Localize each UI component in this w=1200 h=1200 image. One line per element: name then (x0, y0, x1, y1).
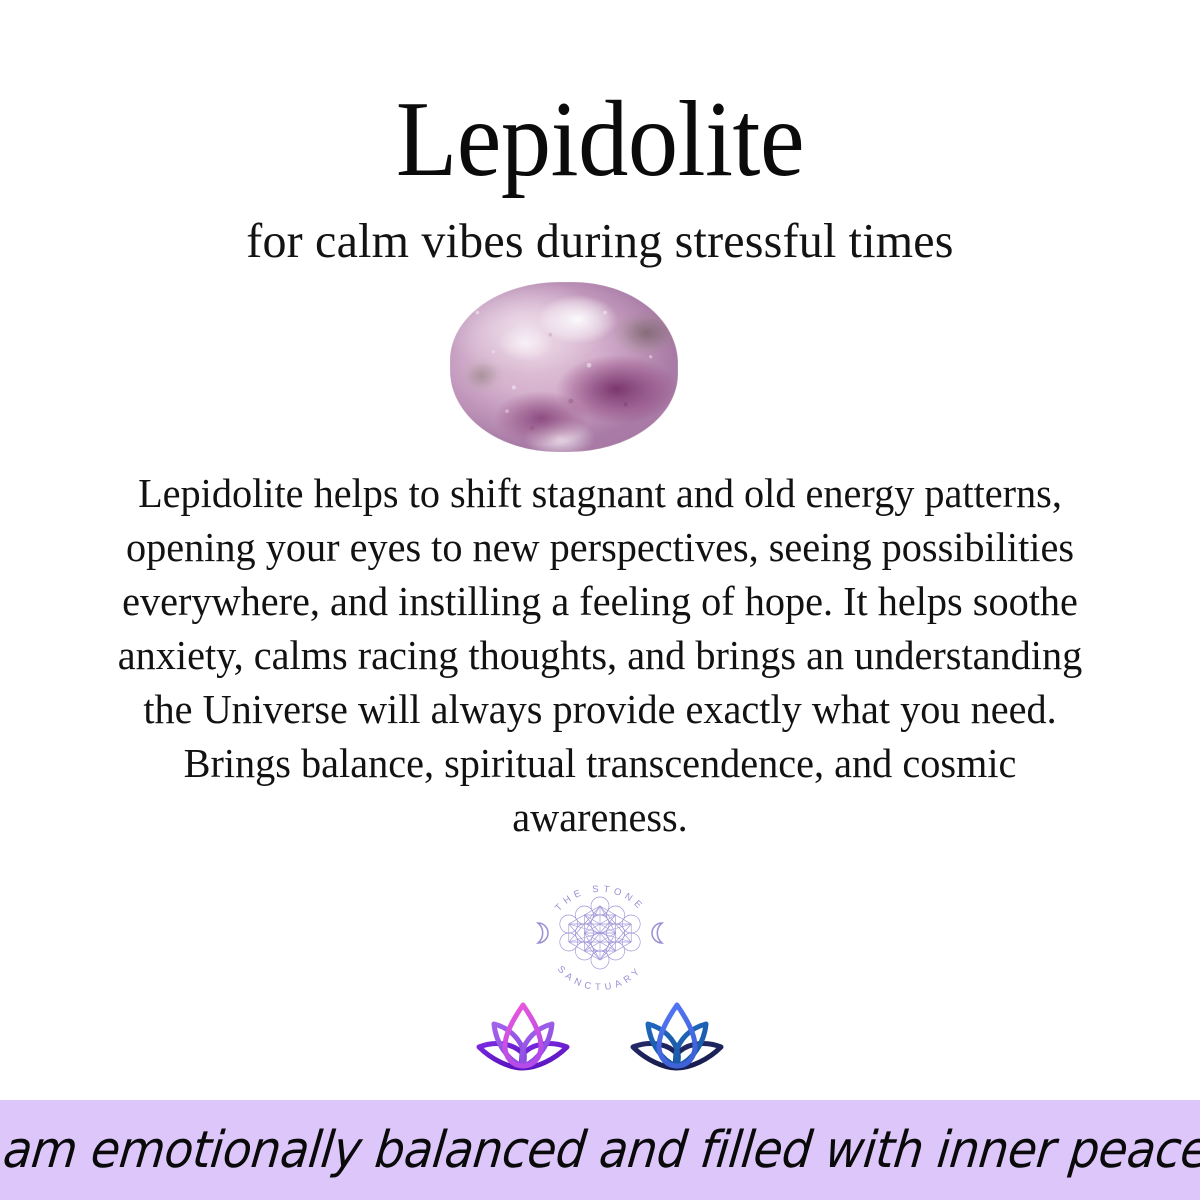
lotus-logo-pair (452, 996, 748, 1084)
stone-description: Lepidolite helps to shift stagnant and o… (115, 466, 1085, 844)
affirmation-text: I am emotionally balanced and filled wit… (0, 1125, 1200, 1176)
page-title: Lepidolite (42, 86, 1158, 194)
metatrons-cube-icon: THE STONE SANCTUARY (518, 866, 682, 996)
waning-crescent-moon-icon (652, 923, 662, 943)
page-subtitle: for calm vibes during stressful times (12, 216, 1188, 265)
brand-bottom-arc-text: SANCTUARY (555, 964, 645, 993)
stone-photo-container (450, 282, 678, 452)
stone-sheen-overlay (450, 282, 678, 452)
header-block: Lepidolite for calm vibes during stressf… (0, 86, 1200, 265)
lotus-blue (633, 1005, 721, 1068)
lotus-purple (479, 1005, 567, 1068)
brand-logo: THE STONE SANCTUARY (518, 866, 682, 996)
waxing-crescent-moon-icon (538, 923, 548, 943)
crystal-info-card: Lepidolite for calm vibes during stressf… (0, 0, 1200, 1200)
affirmation-banner: I am emotionally balanced and filled wit… (0, 1100, 1200, 1200)
lotus-logos (452, 996, 748, 1084)
